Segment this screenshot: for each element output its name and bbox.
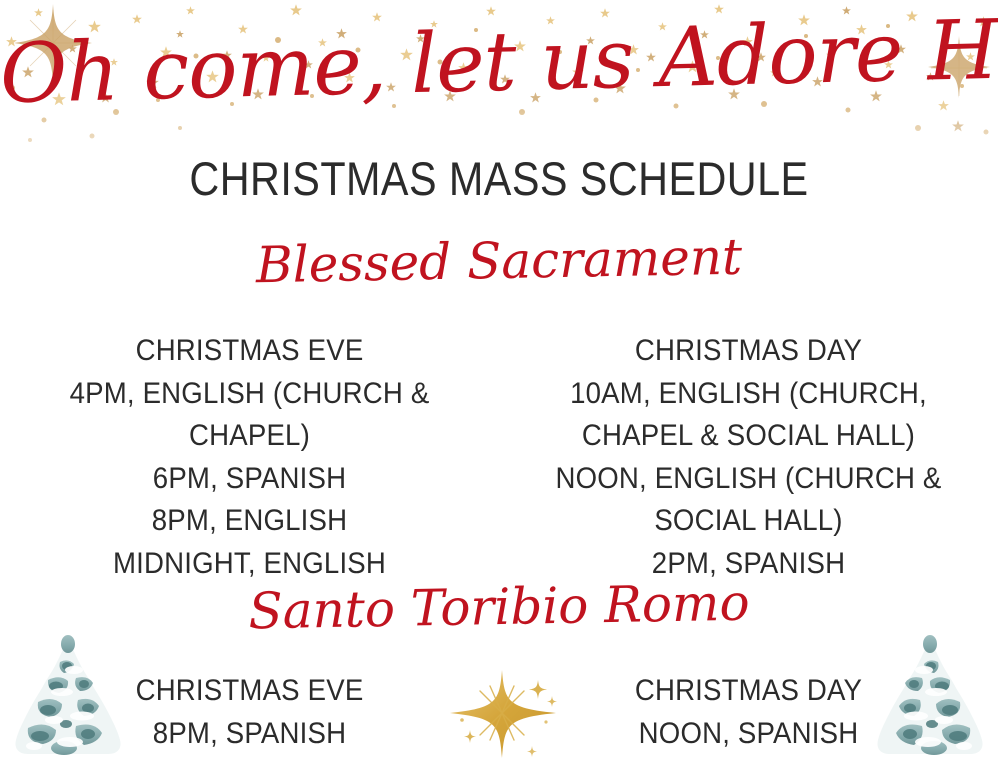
schedule-heading: CHRISTMAS DAY bbox=[532, 330, 965, 373]
page-title: CHRISTMAS MASS SCHEDULE bbox=[60, 154, 938, 203]
schedule-santo-toribio-romo: CHRISTMAS EVE 8PM, SPANISH CHRISTMAS DAY… bbox=[0, 670, 998, 755]
schedule-column-christmas-day: CHRISTMAS DAY NOON, SPANISH bbox=[519, 670, 978, 755]
schedule-heading: CHRISTMAS EVE bbox=[33, 330, 466, 373]
schedule-heading: CHRISTMAS DAY bbox=[532, 670, 965, 713]
schedule-line: SOCIAL HALL) bbox=[532, 500, 965, 543]
schedule-line: CHAPEL & SOCIAL HALL) bbox=[532, 415, 965, 458]
schedule-column-christmas-eve: CHRISTMAS EVE 4PM, ENGLISH (CHURCH & CHA… bbox=[20, 330, 479, 586]
schedule-line: 8PM, SPANISH bbox=[33, 713, 466, 756]
schedule-line: NOON, SPANISH bbox=[532, 713, 965, 756]
schedule-line: 6PM, SPANISH bbox=[33, 458, 466, 501]
schedule-column-christmas-day: CHRISTMAS DAY 10AM, ENGLISH (CHURCH, CHA… bbox=[519, 330, 978, 586]
schedule-column-christmas-eve: CHRISTMAS EVE 8PM, SPANISH bbox=[20, 670, 479, 755]
schedule-blessed-sacrament: CHRISTMAS EVE 4PM, ENGLISH (CHURCH & CHA… bbox=[0, 330, 998, 586]
schedule-heading: CHRISTMAS EVE bbox=[33, 670, 466, 713]
schedule-line: 8PM, ENGLISH bbox=[33, 500, 466, 543]
headline-script: Oh come, let us Adore Him! bbox=[0, 10, 998, 116]
schedule-line: NOON, ENGLISH (CHURCH & bbox=[532, 458, 965, 501]
schedule-line: 10AM, ENGLISH (CHURCH, bbox=[532, 373, 965, 416]
parish-name-blessed-sacrament: Blessed Sacrament bbox=[0, 223, 998, 298]
schedule-line: 4PM, ENGLISH (CHURCH & CHAPEL) bbox=[33, 373, 466, 458]
christmas-mass-schedule-poster: Oh come, let us Adore Him! CHRISTMAS MAS… bbox=[0, 0, 998, 768]
